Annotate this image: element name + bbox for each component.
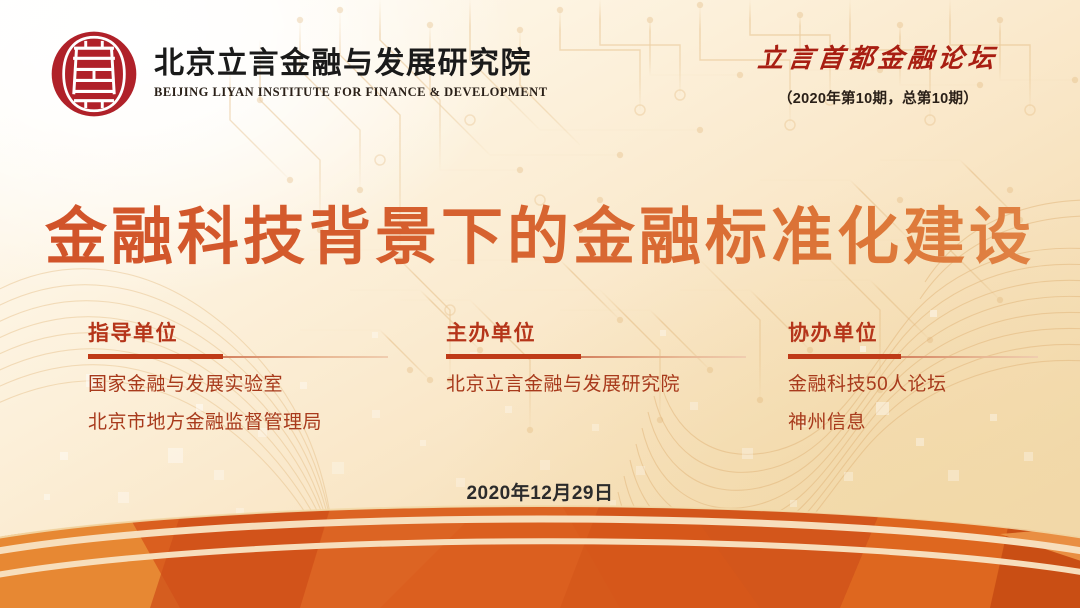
rule-thin-segment <box>901 356 1039 358</box>
bottom-arc-decoration <box>0 488 1080 608</box>
column-guidance-units: 指导单位 国家金融与发展实验室 北京市地方金融监督管理局 <box>88 322 388 435</box>
forum-name: 立言首都金融论坛 <box>726 38 1030 75</box>
column-heading: 指导单位 <box>88 322 388 345</box>
poster-canvas: 北京立言金融与发展研究院 BEIJING LIYAN INSTITUTE FOR… <box>0 0 1080 608</box>
brand-text-block: 北京立言金融与发展研究院 BEIJING LIYAN INSTITUTE FOR… <box>154 46 548 101</box>
rule-thin-segment <box>581 356 746 358</box>
column-item: 国家金融与发展实验室 <box>88 374 388 397</box>
rule-thick-segment <box>788 354 901 359</box>
column-host-unit: 主办单位 北京立言金融与发展研究院 <box>446 322 746 397</box>
column-rule <box>88 353 388 360</box>
column-item: 金融科技50人论坛 <box>788 374 1038 397</box>
forum-branding: 立言首都金融论坛 （2020年第10期，总第10期） <box>728 38 1028 108</box>
main-title-container: 金融科技背景下的金融标准化建设 <box>0 186 1080 276</box>
column-heading: 协办单位 <box>788 322 1038 345</box>
column-rule <box>788 353 1038 360</box>
rule-thin-segment <box>223 356 388 358</box>
institute-brand: 北京立言金融与发展研究院 BEIJING LIYAN INSTITUTE FOR… <box>48 28 548 120</box>
forum-issue: （2020年第10期，总第10期） <box>728 87 1028 108</box>
organizer-columns: 指导单位 国家金融与发展实验室 北京市地方金融监督管理局 主办单位 北京立言金融… <box>0 322 1080 452</box>
column-item: 神州信息 <box>788 412 1038 435</box>
institute-name-cn: 北京立言金融与发展研究院 <box>154 46 548 81</box>
column-item: 北京市地方金融监督管理局 <box>88 412 388 435</box>
institute-name-en: BEIJING LIYAN INSTITUTE FOR FINANCE & DE… <box>154 85 548 100</box>
column-coorganizer-units: 协办单位 金融科技50人论坛 神州信息 <box>788 322 1038 435</box>
liyan-seal-logo-icon <box>48 28 140 120</box>
page-title: 金融科技背景下的金融标准化建设 <box>45 186 1035 276</box>
column-item: 北京立言金融与发展研究院 <box>446 374 746 397</box>
rule-thick-segment <box>446 354 581 359</box>
column-heading: 主办单位 <box>446 322 746 345</box>
rule-thick-segment <box>88 354 223 359</box>
poster-header: 北京立言金融与发展研究院 BEIJING LIYAN INSTITUTE FOR… <box>0 0 1080 130</box>
column-rule <box>446 353 746 360</box>
